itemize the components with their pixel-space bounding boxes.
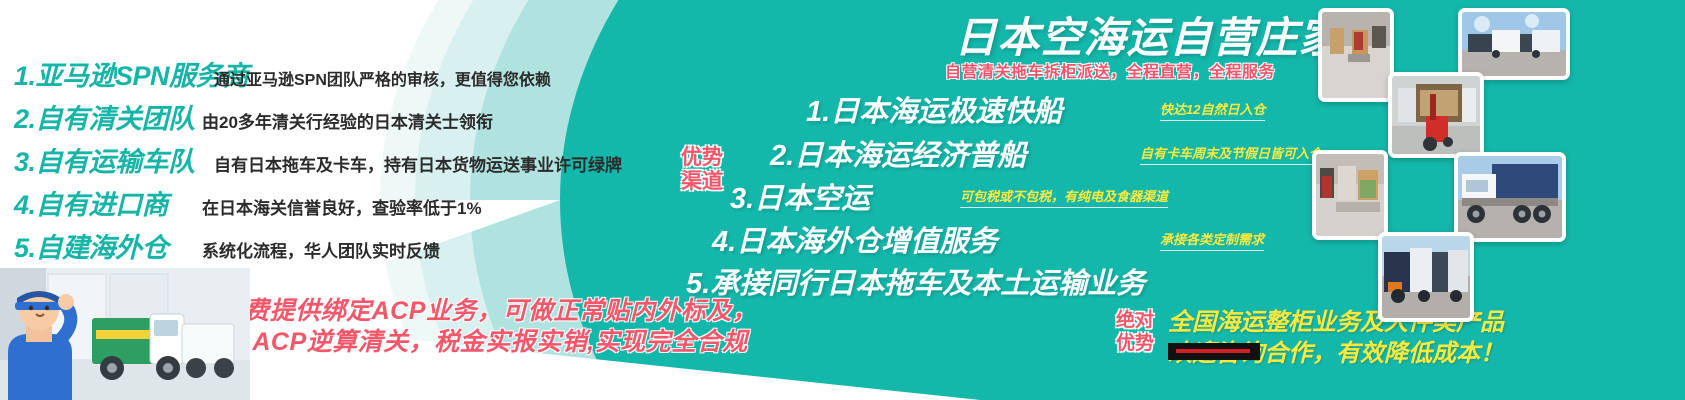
list-item: 3.自有运输车队 自有日本拖车及卡车，持有日本货物运送事业许可绿牌	[14, 140, 674, 174]
photo-collage	[1290, 0, 1685, 320]
absolute-badge-line-2: 优势	[1106, 333, 1164, 356]
left-advantage-list: 1.亚马逊SPN服务商 通过亚马逊SPN团队严格的审核，更值得您依赖 2.自有清…	[14, 54, 674, 269]
acp-promo-line-2: ACP逆算清关，税金实报实销,实现完全合规	[192, 327, 808, 358]
truck-fleet-lineup-photo	[1378, 232, 1474, 322]
warehouse-worker-pallet-photo	[1318, 8, 1394, 102]
service-item-5: 5.承接同行日本拖车及本土运输业务	[686, 260, 1145, 302]
advantage-desc-1: 通过亚马逊SPN团队严格的审核，更值得您依赖	[214, 66, 551, 90]
advantage-title-1: 1.亚马逊SPN服务商	[14, 54, 214, 93]
service-title-2: 2.日本海运经济普船	[770, 140, 1026, 172]
service-note-1: 快达12自然日入仓	[1160, 99, 1265, 119]
service-note-3: 可包税或不包税，有纯电及食器渠道	[960, 186, 1168, 206]
acp-promo-text: 免费提供绑定ACP业务，可做正常贴内外标及， ACP逆算清关，税金实报实销,实现…	[168, 296, 808, 359]
advantage-desc-3: 自有日本拖车及卡车，持有日本货物运送事业许可绿牌	[214, 151, 622, 176]
service-item-4: 4.日本海外仓增值服务	[712, 218, 997, 260]
service-item-2: 2.日本海运经济普船	[770, 132, 1026, 174]
advantage-title-2: 2.自有清关团队	[14, 97, 214, 136]
service-title-3: 3.日本空运	[730, 183, 870, 215]
advantage-desc-2: 由20多年清关行经验的日本清关士领衔	[202, 108, 493, 133]
absolute-advantage-badge: 绝对 优势	[1106, 310, 1164, 356]
service-title-1: 1.日本海运极速快船	[806, 96, 1062, 128]
list-item: 4.自有进口商 在日本海关信誉良好，查验率低于1%	[14, 183, 674, 217]
advantage-desc-4: 在日本海关信誉良好，查验率低于1%	[202, 194, 482, 219]
service-note-4: 承接各类定制需求	[1160, 229, 1264, 249]
absolute-badge-line-1: 绝对	[1106, 310, 1164, 333]
promotional-banner: 1.亚马逊SPN服务商 通过亚马逊SPN团队严格的审核，更值得您依赖 2.自有清…	[0, 0, 1685, 400]
warehouse-cargo-stacks-photo	[1312, 150, 1388, 240]
subtitle: 自营清关拖车拆柜派送，全程直营，全程服务	[900, 58, 1320, 82]
list-item: 1.亚马逊SPN服务商 通过亚马逊SPN团队严格的审核，更值得您依赖	[14, 54, 674, 88]
container-truck-photo	[1454, 152, 1566, 242]
advantage-title-3: 3.自有运输车队	[14, 140, 214, 179]
service-list: 1.日本海运极速快船 快达12自然日入仓 2.日本海运经济普船 自有卡车周末及节…	[700, 88, 1360, 288]
list-item: 2.自有清关团队 由20多年清关行经验的日本清关士领衔	[14, 97, 674, 131]
parked-box-trucks-photo	[1458, 8, 1570, 80]
service-title-4: 4.日本海外仓增值服务	[712, 226, 997, 258]
service-title-5: 5.承接同行日本拖车及本土运输业务	[686, 268, 1145, 300]
service-item-3: 3.日本空运	[730, 175, 870, 217]
redacted-contact-bar	[1168, 343, 1260, 360]
advantage-title-4: 4.自有进口商	[14, 183, 214, 222]
forklift-loading-truck-photo	[1388, 72, 1484, 158]
service-item-1: 1.日本海运极速快船	[806, 88, 1062, 130]
worker-and-trucks-illustration	[0, 240, 250, 400]
